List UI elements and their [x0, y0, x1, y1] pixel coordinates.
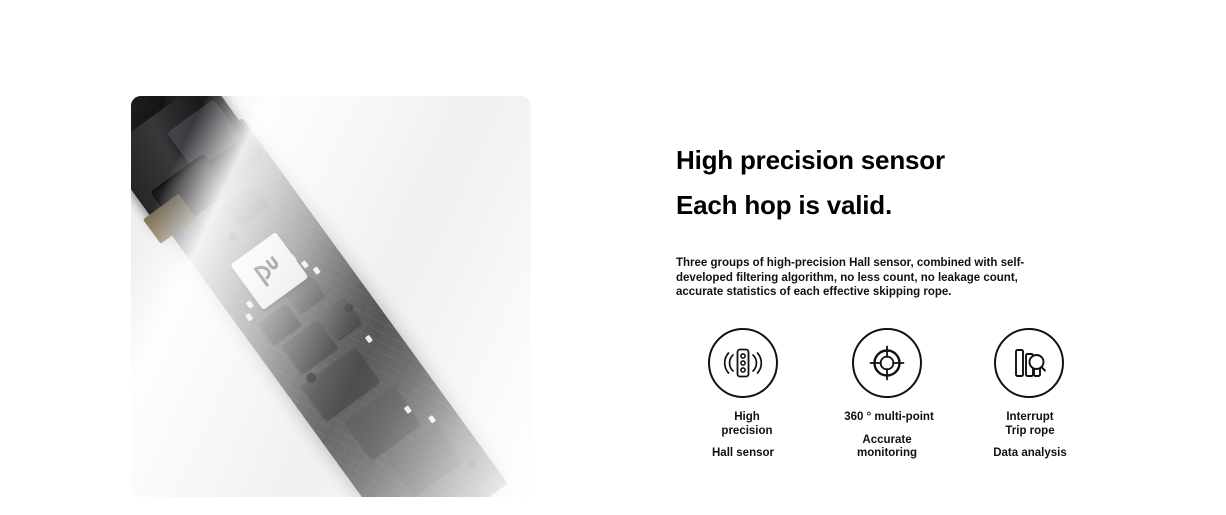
feature-item-data-analysis: Interrupt Trip rope Data analysis	[954, 328, 1104, 461]
skipping-rope-handle-illustration	[131, 96, 520, 497]
feature-item-hall-sensor: High precision Hall sensor	[668, 328, 818, 461]
mijia-logo-icon	[247, 249, 292, 294]
feature-caption-line-2: Trip rope	[956, 425, 1104, 439]
content-column: High precision sensor Each hop is valid.…	[676, 138, 1096, 300]
feature-caption-line-2: monitoring	[812, 447, 962, 461]
feature-caption-top: 360 ° multi-point	[812, 411, 962, 425]
body-paragraph: Three groups of high-precision Hall sens…	[676, 256, 1048, 300]
feature-caption-top: Interrupt Trip rope	[954, 411, 1104, 438]
headline-line-2: Each hop is valid.	[676, 183, 1096, 228]
feature-caption-bottom: Data analysis	[954, 447, 1104, 461]
crosshair-target-icon	[866, 342, 908, 384]
hall-sensor-waves-icon	[722, 342, 764, 384]
feature-caption-bottom: Accurate monitoring	[812, 434, 962, 461]
feature-icon-circle	[994, 328, 1064, 398]
feature-caption-bottom: Hall sensor	[668, 447, 818, 461]
feature-caption-line-1: Interrupt	[956, 411, 1104, 425]
feature-item-multi-point: 360 ° multi-point Accurate monitoring	[812, 328, 962, 461]
product-image-panel	[131, 96, 531, 497]
feature-caption-top: High precision	[668, 411, 818, 438]
bar-chart-magnifier-icon	[1008, 342, 1050, 384]
headline-line-1: High precision sensor	[676, 138, 1096, 183]
feature-icon-circle	[708, 328, 778, 398]
feature-caption-line-2: precision	[676, 425, 818, 439]
feature-caption-line-1: High	[676, 411, 818, 425]
feature-caption-line-1: 360 ° multi-point	[816, 411, 962, 425]
feature-caption-line-1: Accurate	[812, 434, 962, 448]
feature-icon-circle	[852, 328, 922, 398]
feature-list: High precision Hall sensor 360 ° multi-p…	[676, 328, 1096, 478]
